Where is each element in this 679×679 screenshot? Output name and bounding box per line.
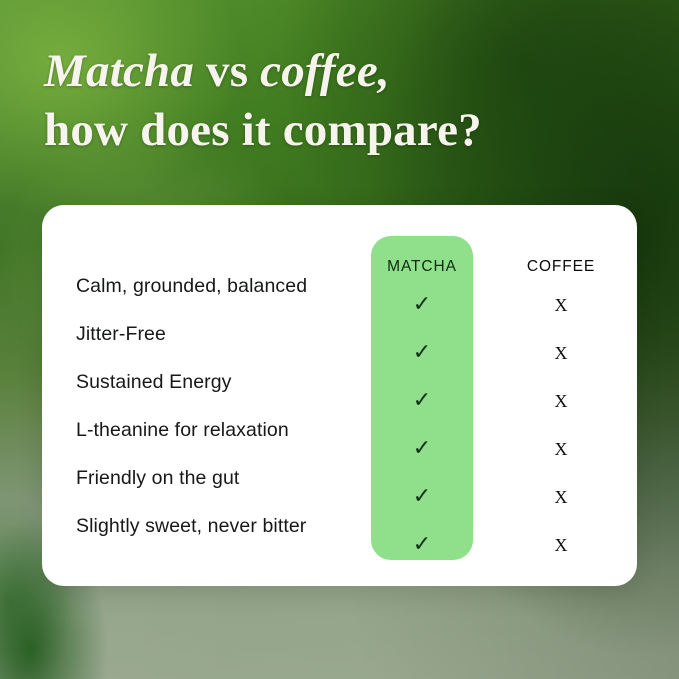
table-row: Jitter-Free ✓ X xyxy=(42,322,637,370)
comparison-card: MATCHA COFFEE Calm, grounded, balanced ✓… xyxy=(42,205,637,586)
row-label: L-theanine for relaxation xyxy=(76,418,289,442)
headline-word-matcha: Matcha xyxy=(44,45,194,97)
table-row: L-theanine for relaxation ✓ X xyxy=(42,418,637,466)
cross-icon: X xyxy=(498,341,624,365)
cross-icon: X xyxy=(498,293,624,317)
headline-line-1: Matcha vs coffee, xyxy=(44,42,624,101)
table-row: Sustained Energy ✓ X xyxy=(42,370,637,418)
cross-icon: X xyxy=(498,533,624,557)
comparison-table: MATCHA COFFEE Calm, grounded, balanced ✓… xyxy=(42,205,637,586)
table-row: Slightly sweet, never bitter ✓ X xyxy=(42,514,637,562)
check-icon: ✓ xyxy=(371,485,473,509)
headline-word-vs: vs xyxy=(206,45,248,97)
page-title: Matcha vs coffee, how does it compare? xyxy=(44,42,624,160)
check-icon: ✓ xyxy=(371,533,473,557)
check-icon: ✓ xyxy=(371,389,473,413)
row-label: Slightly sweet, never bitter xyxy=(76,514,306,538)
cross-icon: X xyxy=(498,485,624,509)
headline-line-2: how does it compare? xyxy=(44,101,624,160)
cross-icon: X xyxy=(498,437,624,461)
check-icon: ✓ xyxy=(371,341,473,365)
row-label: Sustained Energy xyxy=(76,370,232,394)
table-row: Friendly on the gut ✓ X xyxy=(42,466,637,514)
row-label: Jitter-Free xyxy=(76,322,166,346)
row-label: Friendly on the gut xyxy=(76,466,239,490)
headline-word-coffee: coffee, xyxy=(260,45,390,97)
check-icon: ✓ xyxy=(371,437,473,461)
cross-icon: X xyxy=(498,389,624,413)
check-icon: ✓ xyxy=(371,293,473,317)
table-row: Calm, grounded, balanced ✓ X xyxy=(42,274,637,322)
row-label: Calm, grounded, balanced xyxy=(76,274,307,298)
